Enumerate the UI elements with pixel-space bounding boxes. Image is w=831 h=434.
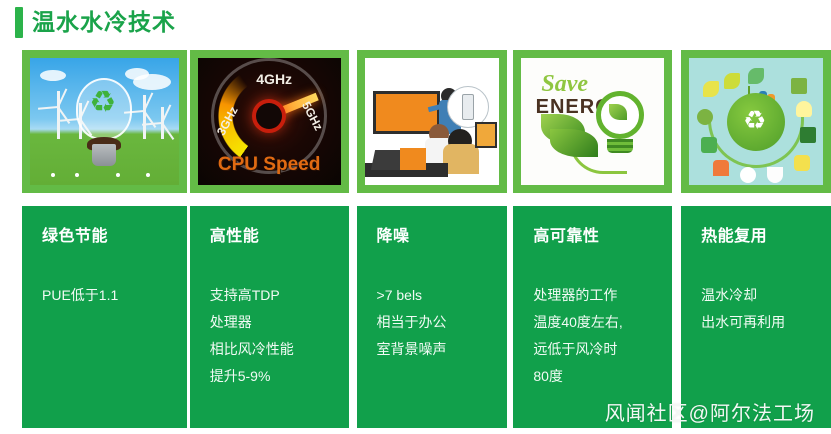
feature-card-line: 80度 xyxy=(533,363,672,390)
photo-frame: ♻ xyxy=(681,50,831,193)
feature-card: 热能复用 温水冷却 出水可再利用 xyxy=(681,206,831,428)
feature-card-line: 相比风冷性能 xyxy=(210,336,349,363)
office-meeting-artwork xyxy=(365,58,500,185)
feature-card-body: 温水冷却 出水可再利用 xyxy=(701,282,831,336)
feature-card: 绿色节能 PUE低于1.1 xyxy=(22,206,187,428)
feature-card-body: PUE低于1.1 xyxy=(42,282,187,309)
eco-globe-artwork: ♻ xyxy=(689,58,823,185)
save-energy-logo-photo: Save ENERGY xyxy=(521,58,664,185)
feature-card-line: 处理器的工作 xyxy=(533,282,672,309)
feature-card-line: PUE低于1.1 xyxy=(42,282,187,309)
page-title: 温水水冷技术 xyxy=(15,7,176,38)
feature-column: 3GHz 4GHz 5GHz CPU Speed 高性能 支持高TDP 处理器 … xyxy=(190,50,349,434)
feature-card-line: 远低于风冷时 xyxy=(533,336,672,363)
feature-card-title: 降噪 xyxy=(377,226,508,248)
cpu-speed-gauge-photo: 3GHz 4GHz 5GHz CPU Speed xyxy=(198,58,341,185)
feature-card-line: 相当于办公 xyxy=(377,309,508,336)
feature-card-line: 支持高TDP xyxy=(210,282,349,309)
feature-column: 降噪 >7 bels 相当于办公 室背景噪声 xyxy=(357,50,508,434)
feature-card-line: 室背景噪声 xyxy=(377,336,508,363)
photo-frame: Save ENERGY xyxy=(513,50,672,193)
photo-frame xyxy=(357,50,508,193)
page-title-text: 温水水冷技术 xyxy=(32,7,176,38)
feature-card-line: 温水冷却 xyxy=(701,282,831,309)
feature-column: ♻ 热能复用 温水冷却 出水可再利用 xyxy=(681,50,831,434)
photo-frame: 3GHz 4GHz 5GHz CPU Speed xyxy=(190,50,349,193)
title-accent-bar xyxy=(15,7,23,38)
feature-card-title: 高可靠性 xyxy=(533,226,672,248)
office-meeting-illustration xyxy=(365,58,500,185)
feature-card-body: >7 bels 相当于办公 室背景噪声 xyxy=(377,282,508,363)
gauge-label-4ghz: 4GHz xyxy=(256,71,292,87)
feature-card-title: 绿色节能 xyxy=(42,226,187,248)
save-energy-artwork: Save ENERGY xyxy=(521,58,664,185)
feature-columns: ♻ 绿色节能 PUE低于1.1 xyxy=(0,50,831,434)
green-energy-bulb-photo: ♻ xyxy=(30,58,179,185)
green-energy-bulb-artwork: ♻ xyxy=(30,58,179,185)
slide-root: 温水水冷技术 ♻ xyxy=(0,0,831,434)
save-wordmark: Save xyxy=(541,71,588,98)
feature-card-body: 处理器的工作 温度40度左右, 远低于风冷时 80度 xyxy=(533,282,672,390)
leaf-icon xyxy=(550,129,598,157)
feature-card-title: 热能复用 xyxy=(701,226,831,248)
photo-frame: ♻ xyxy=(22,50,187,193)
feature-card: 降噪 >7 bels 相当于办公 室背景噪声 xyxy=(357,206,508,428)
feature-card-line: 处理器 xyxy=(210,309,349,336)
recycle-icon: ♻ xyxy=(89,88,116,118)
feature-card: 高可靠性 处理器的工作 温度40度左右, 远低于风冷时 80度 xyxy=(513,206,672,428)
feature-card: 高性能 支持高TDP 处理器 相比风冷性能 提升5-9% xyxy=(190,206,349,428)
cpu-gauge-artwork: 3GHz 4GHz 5GHz CPU Speed xyxy=(198,58,341,185)
gauge-caption: CPU Speed xyxy=(198,154,341,176)
feature-card-line: 出水可再利用 xyxy=(701,309,831,336)
feature-column: ♻ 绿色节能 PUE低于1.1 xyxy=(22,50,187,434)
feature-card-line: 提升5-9% xyxy=(210,363,349,390)
feature-card-line: >7 bels xyxy=(377,282,508,309)
feature-column: Save ENERGY 高可靠性 处理器的工作 温度40度左右, xyxy=(513,50,672,434)
feature-card-body: 支持高TDP 处理器 相比风冷性能 提升5-9% xyxy=(210,282,349,390)
feature-card-line: 温度40度左右, xyxy=(533,309,672,336)
eco-globe-infographic-photo: ♻ xyxy=(689,58,823,185)
feature-card-title: 高性能 xyxy=(210,226,349,248)
